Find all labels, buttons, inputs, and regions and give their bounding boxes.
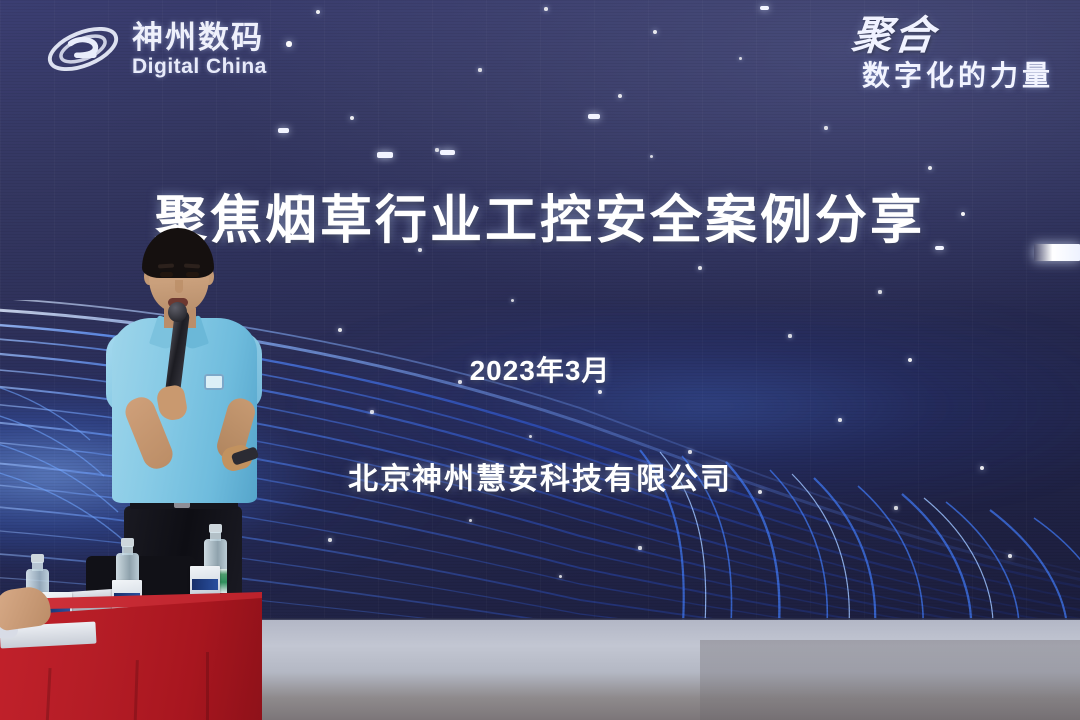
particle-dot (529, 435, 532, 438)
digital-china-swirl-icon (44, 20, 122, 78)
particle-dot (824, 126, 827, 129)
particle-dot (650, 155, 653, 158)
presenter-eye-left (160, 272, 173, 277)
presenter-eye-right (186, 272, 199, 277)
presenter-nose (175, 280, 183, 293)
cloth-fold (206, 652, 209, 720)
brand-logo-left: 神州数码 Digital China (44, 20, 267, 78)
name-card (190, 566, 220, 598)
particle-dot (894, 506, 897, 509)
particle-dot (638, 546, 641, 549)
particle-dot (878, 290, 881, 293)
particle-dash (278, 128, 289, 133)
particle-dot (559, 575, 562, 578)
particle-dot (469, 519, 472, 522)
cloth-fold (132, 660, 139, 720)
event-brand-right: 聚合 数字化的力量 (852, 16, 1054, 90)
particle-dot (350, 116, 354, 120)
cloth-fold (43, 668, 51, 720)
particle-dash (588, 114, 600, 119)
particle-dash (377, 152, 393, 158)
particle-dot (653, 30, 657, 34)
brand-logo-left-text: 神州数码 Digital China (132, 22, 267, 77)
particle-dot (618, 94, 622, 98)
presenter-chest-logo (204, 374, 224, 390)
particle-dot (435, 148, 438, 151)
event-brand-subtitle: 数字化的力量 (852, 62, 1054, 90)
particle-dot (370, 410, 373, 413)
particle-dot (598, 390, 602, 394)
particle-dot (838, 418, 842, 422)
brand-name-cn: 神州数码 (132, 22, 267, 53)
particle-dot (928, 166, 932, 170)
particle-dot (316, 10, 320, 14)
particle-dash (440, 150, 455, 155)
presenter-hair (142, 228, 214, 278)
particle-dot (511, 299, 514, 302)
particle-dot (698, 266, 702, 270)
particle-dot (328, 538, 331, 541)
particle-dot (739, 57, 742, 60)
stage-floor-shadow (700, 640, 1080, 720)
particle-dot (788, 334, 791, 337)
particle-dot (478, 68, 481, 71)
particle-dot (1008, 554, 1012, 558)
screenshot-root: 神州数码 Digital China 聚合 数字化的力量 聚焦烟草行业工控安全案… (0, 0, 1080, 720)
brand-name-en: Digital China (132, 56, 267, 77)
particle-dot (338, 328, 342, 332)
particle-dot (286, 41, 291, 46)
event-brand-script: 聚合 (850, 16, 938, 56)
particle-dot (544, 7, 548, 11)
name-card-stripe (192, 579, 218, 590)
particle-dash (760, 6, 769, 10)
